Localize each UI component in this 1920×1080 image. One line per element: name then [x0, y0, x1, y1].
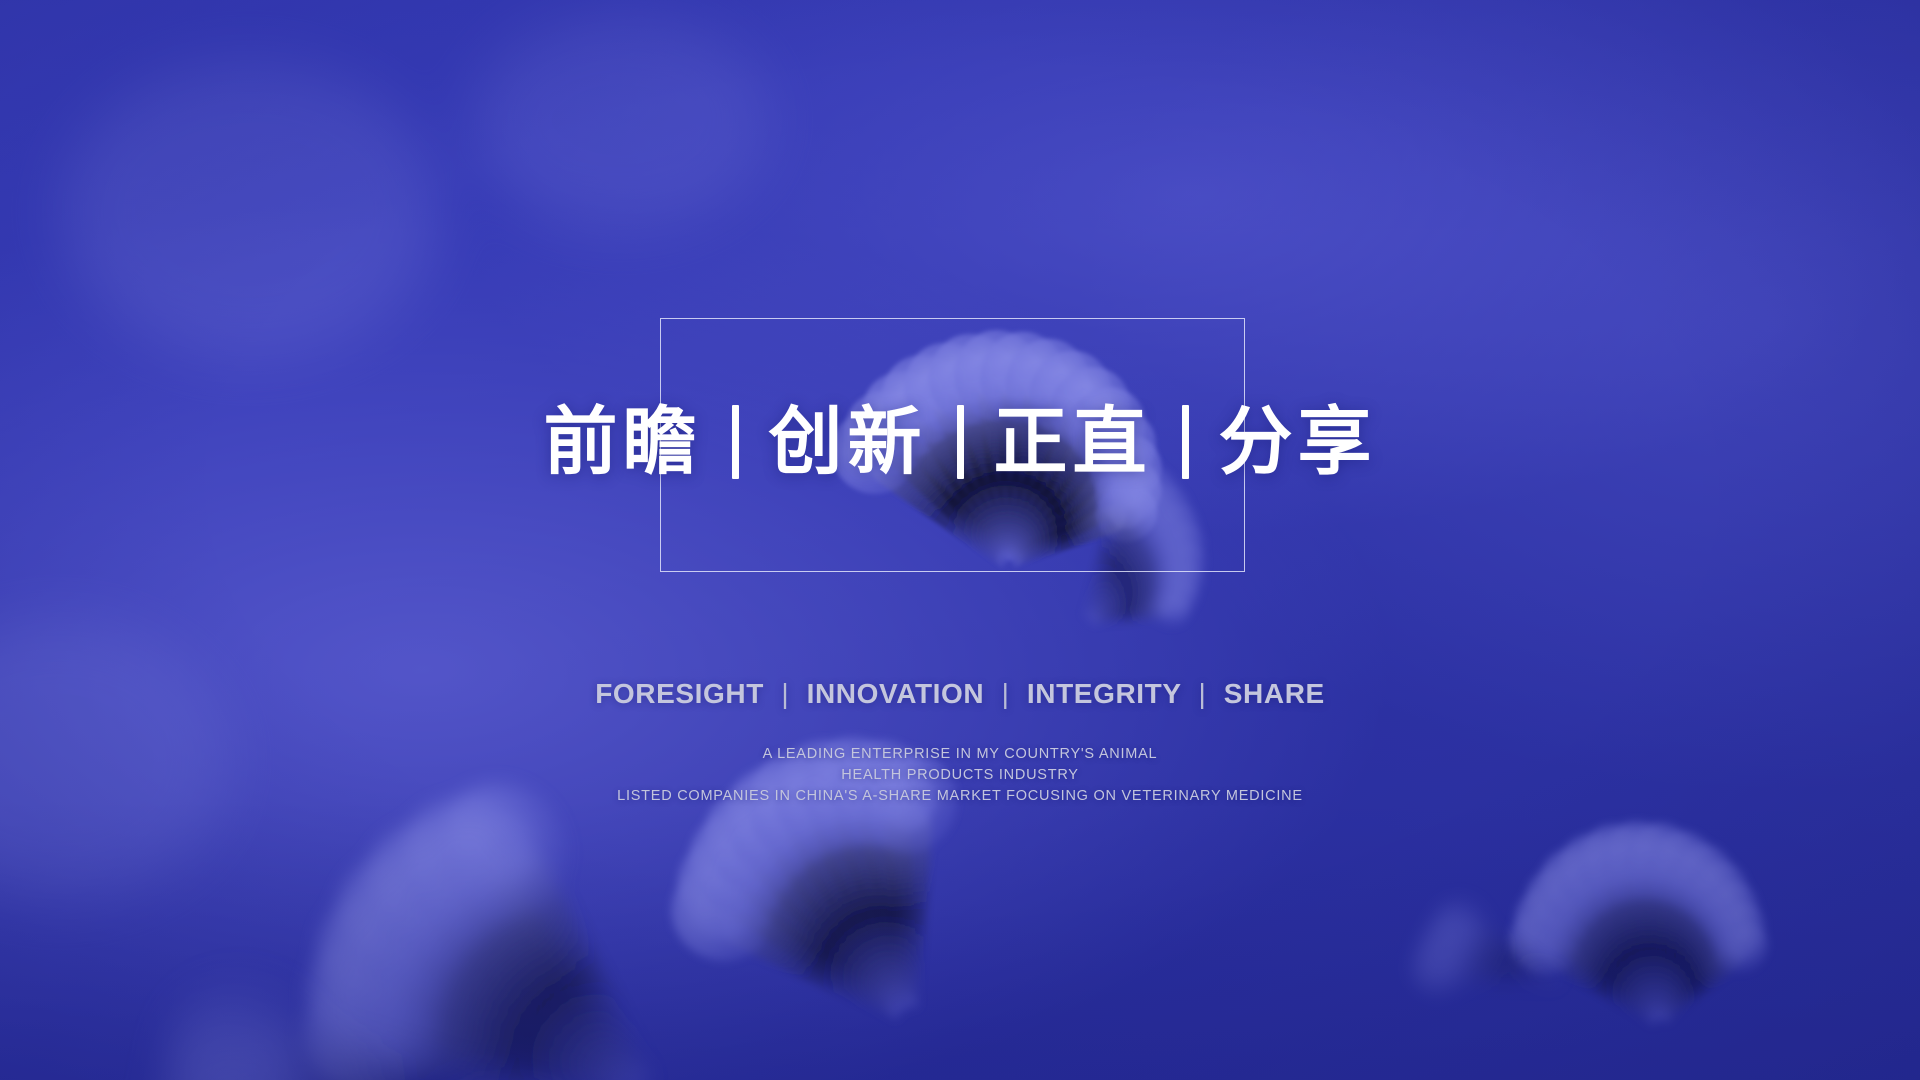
- tagline-separator-3: |: [1190, 678, 1216, 710]
- subtitle-line-1: A LEADING ENTERPRISE IN MY COUNTRY'S ANI…: [0, 744, 1920, 765]
- headline-word-foresight: 前瞻: [544, 405, 702, 479]
- tagline-word-share: SHARE: [1224, 678, 1325, 709]
- headline-word-integrity: 正直: [994, 405, 1152, 479]
- tagline-word-innovation: INNOVATION: [807, 678, 985, 709]
- headline-separator-1: [732, 405, 739, 479]
- tagline-word-foresight: FORESIGHT: [595, 678, 764, 709]
- hero-content: 前瞻 创新 正直 分享 FORESIGHT | INNOVATION | INT…: [0, 0, 1920, 1080]
- slide-canvas: 前瞻 创新 正直 分享 FORESIGHT | INNOVATION | INT…: [0, 0, 1920, 1080]
- headline-values: 前瞻 创新 正直 分享: [0, 392, 1920, 492]
- headline-separator-2: [957, 405, 964, 479]
- tagline-english: FORESIGHT | INNOVATION | INTEGRITY | SHA…: [0, 678, 1920, 710]
- tagline-separator-2: |: [993, 678, 1019, 710]
- headline-separator-3: [1182, 405, 1189, 479]
- subtitle-line-2: HEALTH PRODUCTS INDUSTRY: [0, 765, 1920, 786]
- tagline-separator-1: |: [772, 678, 798, 710]
- subtitle-line-3: LISTED COMPANIES IN CHINA'S A-SHARE MARK…: [0, 786, 1920, 807]
- subtitle-block: A LEADING ENTERPRISE IN MY COUNTRY'S ANI…: [0, 744, 1920, 807]
- tagline-word-integrity: INTEGRITY: [1027, 678, 1181, 709]
- headline-word-innovation: 创新: [769, 405, 927, 479]
- headline-word-share: 分享: [1219, 405, 1377, 479]
